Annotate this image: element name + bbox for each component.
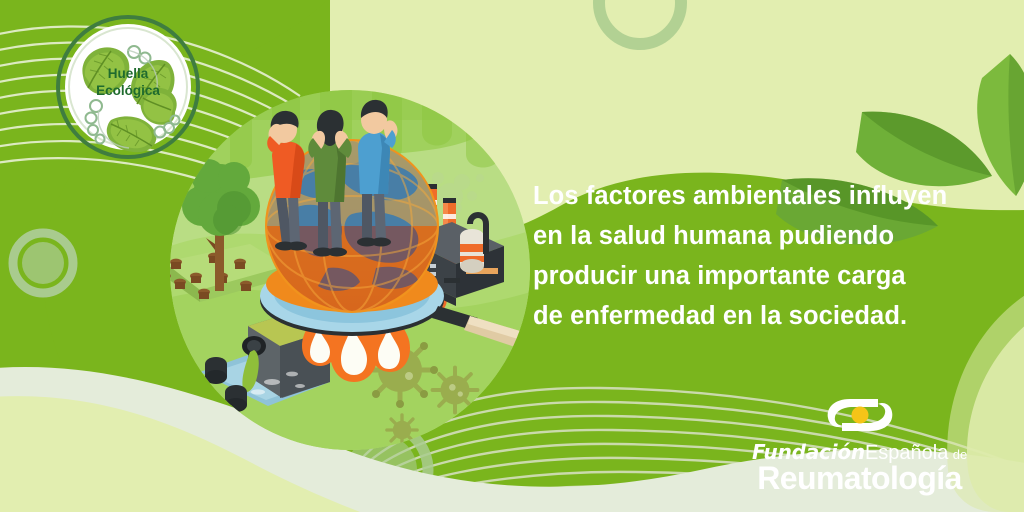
banner-canvas: Los factores ambientales influyen en la …	[0, 0, 1024, 512]
headline-text: Los factores ambientales influyen en la …	[533, 176, 993, 336]
people-group	[267, 100, 397, 257]
fer-swirl-icon	[820, 392, 900, 438]
huella-ecologica-badge: Huella Ecológica	[55, 14, 201, 160]
fer-word-reumatologia: Reumatología	[752, 460, 967, 497]
badge-label: Huella Ecológica	[55, 66, 201, 99]
fer-logo: FundaciónEspañola de Reumatología	[752, 392, 967, 500]
